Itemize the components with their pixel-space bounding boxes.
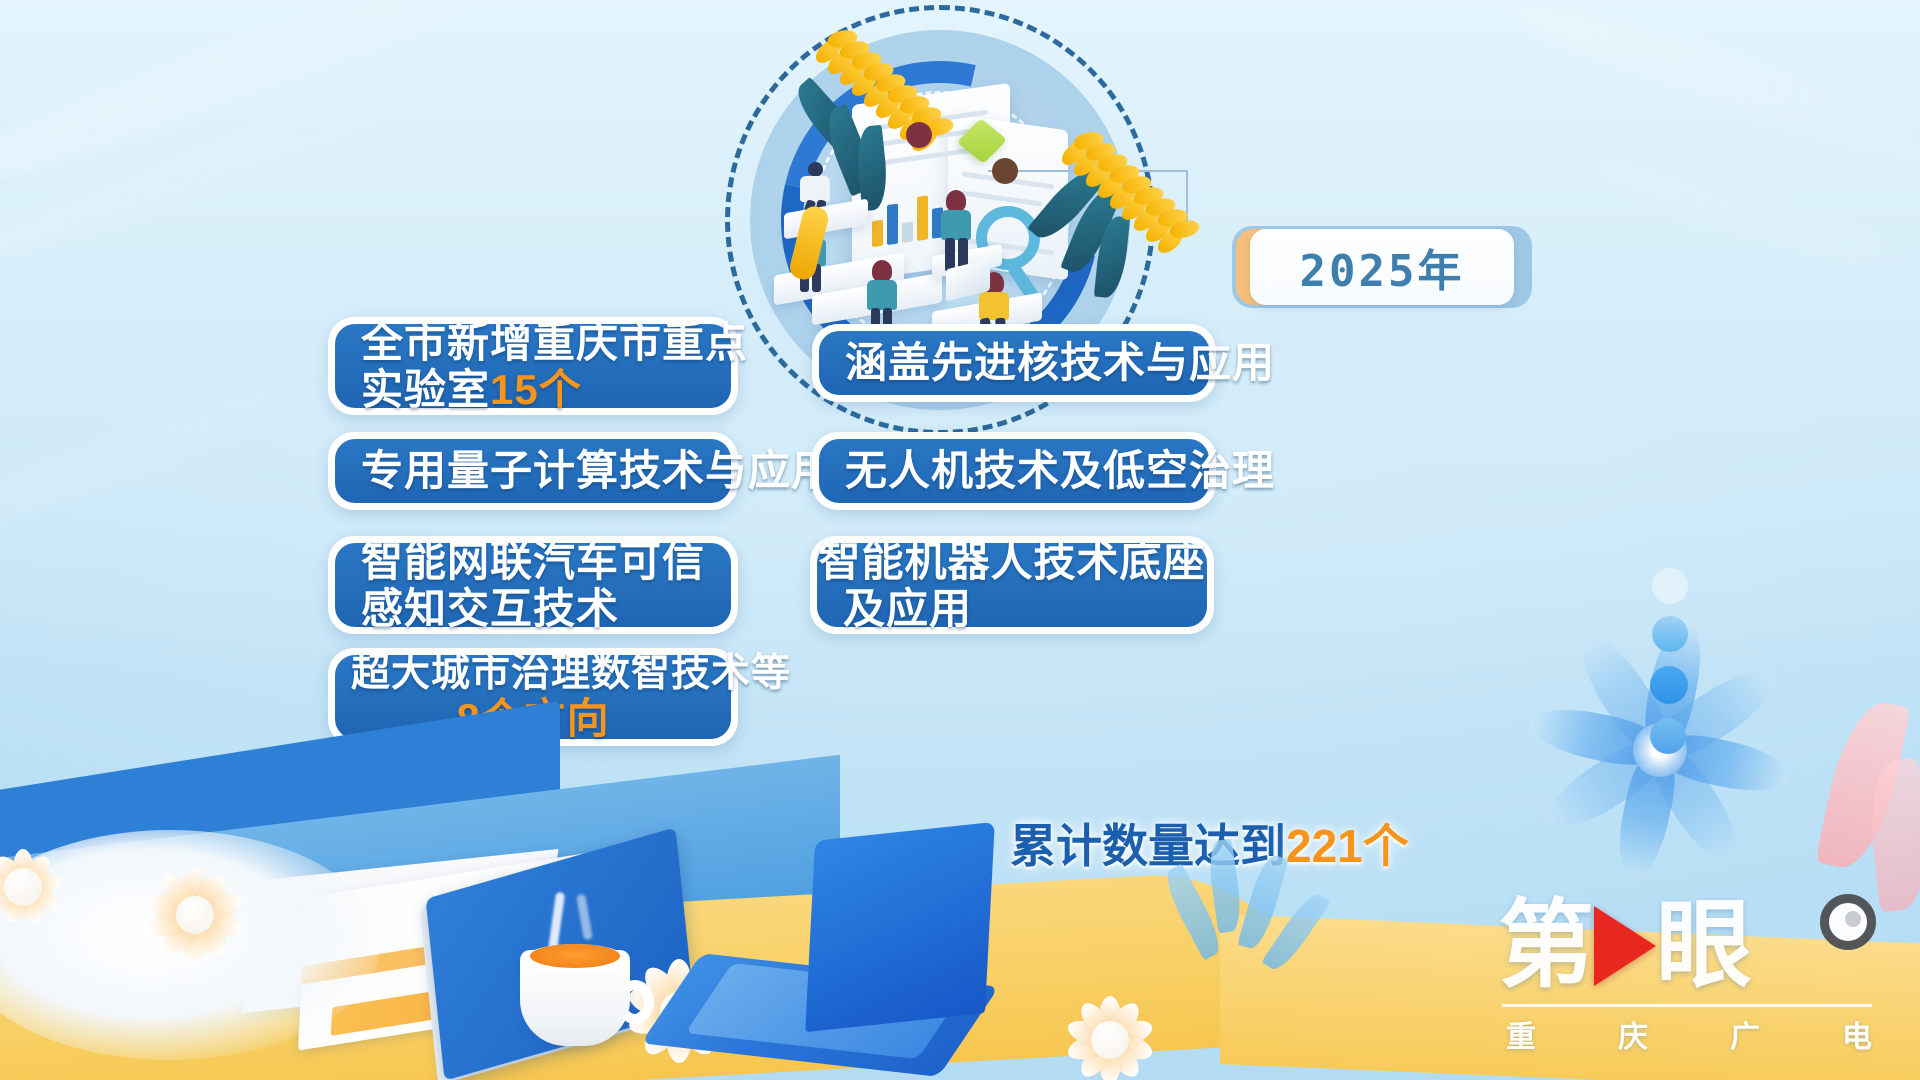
watermark-sub-chong: 重 (1506, 1012, 1538, 1056)
card-key-lab-line1: 全市新增重庆市重点 (361, 319, 705, 366)
card-key-lab-line2-text: 实验室 (361, 366, 490, 413)
card-key-lab-line2: 实验室15个 (361, 366, 705, 413)
card-smart-vehicle-line1: 智能网联汽车可信 (361, 538, 705, 585)
laptop-screen (805, 822, 995, 1032)
card-quantum[interactable]: 专用量子计算技术与应用 (328, 432, 738, 510)
card-key-lab[interactable]: 全市新增重庆市重点 实验室15个 (328, 317, 738, 415)
card-smart-vehicle-body: 智能网联汽车可信 感知交互技术 (335, 543, 731, 627)
card-smart-vehicle-line2: 感知交互技术 (361, 585, 619, 632)
card-uav-line1: 无人机技术及低空治理 (845, 447, 1183, 494)
card-key-lab-body: 全市新增重庆市重点 实验室15个 (335, 324, 731, 408)
card-nuclear-tech[interactable]: 涵盖先进核技术与应用 (812, 324, 1216, 402)
daisy-core (176, 896, 214, 934)
eye-icon (1820, 894, 1876, 950)
coffee-cup-handle (616, 980, 654, 1024)
watermark-sub-qing: 庆 (1618, 1012, 1650, 1056)
coffee-liquid (530, 944, 620, 968)
watermark-char-yan: 眼 (1656, 898, 1752, 994)
card-quantum-line1: 专用量子计算技术与应用 (361, 447, 705, 494)
daisy-flower (1060, 990, 1160, 1080)
card-key-lab-highlight: 15个 (490, 366, 582, 413)
watermark-underline (1502, 1004, 1872, 1007)
play-triangle-icon (1594, 906, 1656, 986)
infographic-stage: 2025年 全市新增重庆市重点 实验室15个 涵盖先进核技术与应用 专用量子计算… (0, 0, 1920, 1080)
card-uav[interactable]: 无人机技术及低空治理 (812, 432, 1216, 510)
channel-watermark: 第 眼 重 庆 广 电 (1498, 890, 1898, 1060)
card-nuclear-tech-body: 涵盖先进核技术与应用 (819, 331, 1209, 395)
card-robot-body: 智能机器人技术底座 及应用 (817, 543, 1207, 627)
card-nuclear-tech-line1: 涵盖先进核技术与应用 (845, 339, 1183, 386)
daisy-flower (0, 844, 66, 930)
daisy-core (1091, 1021, 1129, 1059)
card-robot-line1: 智能机器人技术底座 (819, 538, 1206, 585)
card-robot[interactable]: 智能机器人技术底座 及应用 (810, 536, 1214, 634)
card-robot-line2: 及应用 (843, 585, 972, 632)
card-uav-body: 无人机技术及低空治理 (819, 439, 1209, 503)
card-megacity-line1: 超大城市治理数智技术等 (351, 652, 715, 696)
daisy-core (4, 868, 42, 906)
daisy-flower (140, 860, 250, 970)
watermark-sub-dian: 电 (1842, 1012, 1874, 1056)
card-quantum-body: 专用量子计算技术与应用 (335, 439, 731, 503)
watermark-sub-guang: 广 (1730, 1012, 1762, 1056)
watermark-subtitle: 重 庆 广 电 (1506, 1012, 1874, 1056)
card-smart-vehicle[interactable]: 智能网联汽车可信 感知交互技术 (328, 536, 738, 634)
watermark-char-di: 第 (1498, 898, 1594, 994)
